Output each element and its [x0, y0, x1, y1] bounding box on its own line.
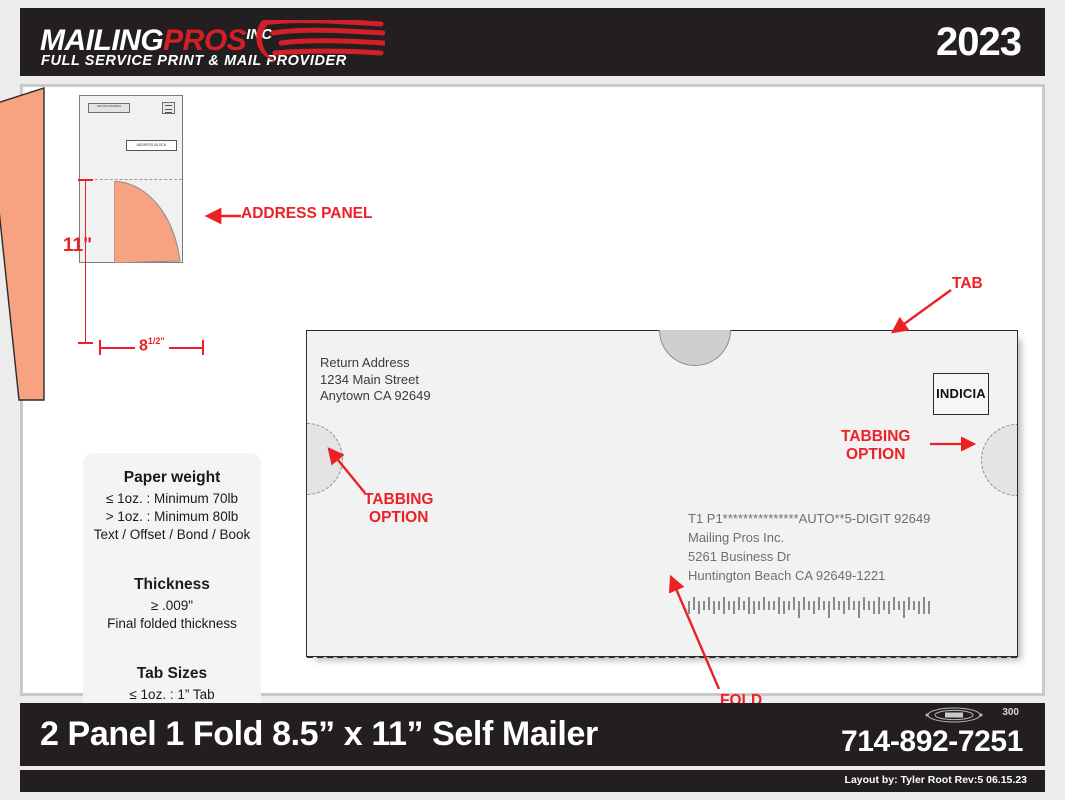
height-dimension-line [85, 179, 86, 343]
arrow-to-tab-icon [883, 287, 955, 339]
paper-weight-title: Paper weight [83, 469, 261, 487]
paper-weight-line-3: Text / Offset / Bond / Book [83, 526, 261, 543]
annotation-tab: TAB [952, 275, 983, 293]
thumbnail-return-address-box: RETURN ADDRESS [88, 103, 130, 113]
tabbing-right-line-2: OPTION [841, 446, 910, 464]
address-name-line: Mailing Pros Inc. [688, 528, 930, 547]
height-dimension-tick-bottom [78, 342, 93, 344]
thumbnail-fold-line [80, 179, 182, 180]
width-dimension-tick-right [202, 340, 204, 355]
page-header: MAILINGPROSINC FULL SERVICE PRINT & MAIL… [20, 8, 1045, 76]
footer-credit-bar: Layout by: Tyler Root Rev:5 06.15.23 [20, 770, 1045, 792]
thumbnail-page-curl [114, 181, 182, 263]
imb-barcode-icon [688, 597, 933, 618]
page-footer: 2 Panel 1 Fold 8.5” x 11” Self Mailer 30… [20, 703, 1045, 766]
company-logo: MAILINGPROSINC FULL SERVICE PRINT & MAIL… [40, 18, 470, 74]
arrow-to-tabbing-left-icon [323, 441, 369, 497]
width-dimension-tick-left [99, 340, 101, 355]
address-street-line: 5261 Business Dr [688, 547, 930, 566]
phone-number: 714-892-7251 [841, 725, 1023, 759]
mailer-spec-sheet: MAILINGPROSINC FULL SERVICE PRINT & MAIL… [0, 0, 1065, 800]
product-title: 2 Panel 1 Fold 8.5” x 11” Self Mailer [40, 715, 598, 754]
return-address-line-2: 1234 Main Street [320, 372, 431, 389]
tab-shape [659, 330, 731, 366]
annotation-tabbing-option-left: TABBING OPTION [364, 491, 433, 527]
address-city-line: Huntington Beach CA 92649-1221 [688, 566, 930, 585]
logo-wordmark: MAILINGPROSINC [40, 18, 272, 58]
height-dimension-tick-top [78, 179, 93, 181]
height-dimension-label: 11" [63, 235, 92, 257]
thickness-line-2: Final folded thickness [83, 615, 261, 632]
address-endorsement-line: T1 P1***************AUTO**5-DIGIT 92649 [688, 509, 930, 528]
recipient-address-block: T1 P1***************AUTO**5-DIGIT 92649 … [688, 509, 930, 585]
fold-line [307, 656, 1017, 658]
arrow-to-tabbing-right-icon [928, 437, 983, 451]
sheet-thumbnail: RETURN ADDRESS ADDRESS BLOCK [79, 95, 183, 263]
layout-credit: Layout by: Tyler Root Rev:5 06.15.23 [845, 774, 1027, 786]
annotation-address-panel: ADDRESS PANEL [241, 205, 372, 223]
thickness-title: Thickness [83, 576, 261, 594]
return-address-block: Return Address 1234 Main Street Anytown … [320, 355, 431, 405]
tabbing-left-line-2: OPTION [364, 509, 433, 527]
paper-weight-line-2: > 1oz. : Minimum 80lb [83, 508, 261, 525]
width-fraction: 1/2" [148, 336, 165, 346]
union-label-icon [923, 707, 985, 723]
tabbing-left-line-1: TABBING [364, 491, 433, 509]
width-value: 8 [139, 337, 148, 354]
spacer-1 [83, 544, 261, 570]
spacer-2 [83, 633, 261, 659]
diagram-canvas: RETURN ADDRESS ADDRESS BLOCK 11" 81/2" P… [20, 84, 1045, 696]
tabbing-option-right-shape [981, 424, 1017, 496]
tab-sizes-line-1: ≤ 1oz. : 1” Tab [83, 686, 261, 703]
thickness-line-1: ≥ .009" [83, 597, 261, 614]
width-dimension-label: 81/2" [135, 336, 169, 355]
annotation-tabbing-option-right: TABBING OPTION [841, 428, 910, 464]
thumbnail-address-block-box: ADDRESS BLOCK [126, 140, 177, 151]
specifications-panel: Paper weight ≤ 1oz. : Minimum 70lb > 1oz… [83, 453, 261, 731]
year-badge: 2023 [936, 20, 1021, 65]
return-address-line-1: Return Address [320, 355, 431, 372]
union-number: 300 [1002, 707, 1019, 718]
tabbing-right-line-1: TABBING [841, 428, 910, 446]
thumbnail-indicia-box [162, 102, 175, 114]
indicia-box: INDICIA [933, 373, 989, 415]
return-address-line-3: Anytown CA 92649 [320, 388, 431, 405]
folded-flap [0, 78, 46, 408]
paper-weight-line-1: ≤ 1oz. : Minimum 70lb [83, 490, 261, 507]
arrow-to-fold-icon [663, 571, 723, 693]
swoosh-icon [255, 20, 385, 66]
tab-sizes-title: Tab Sizes [83, 665, 261, 683]
arrow-to-address-panel-icon [201, 207, 243, 225]
